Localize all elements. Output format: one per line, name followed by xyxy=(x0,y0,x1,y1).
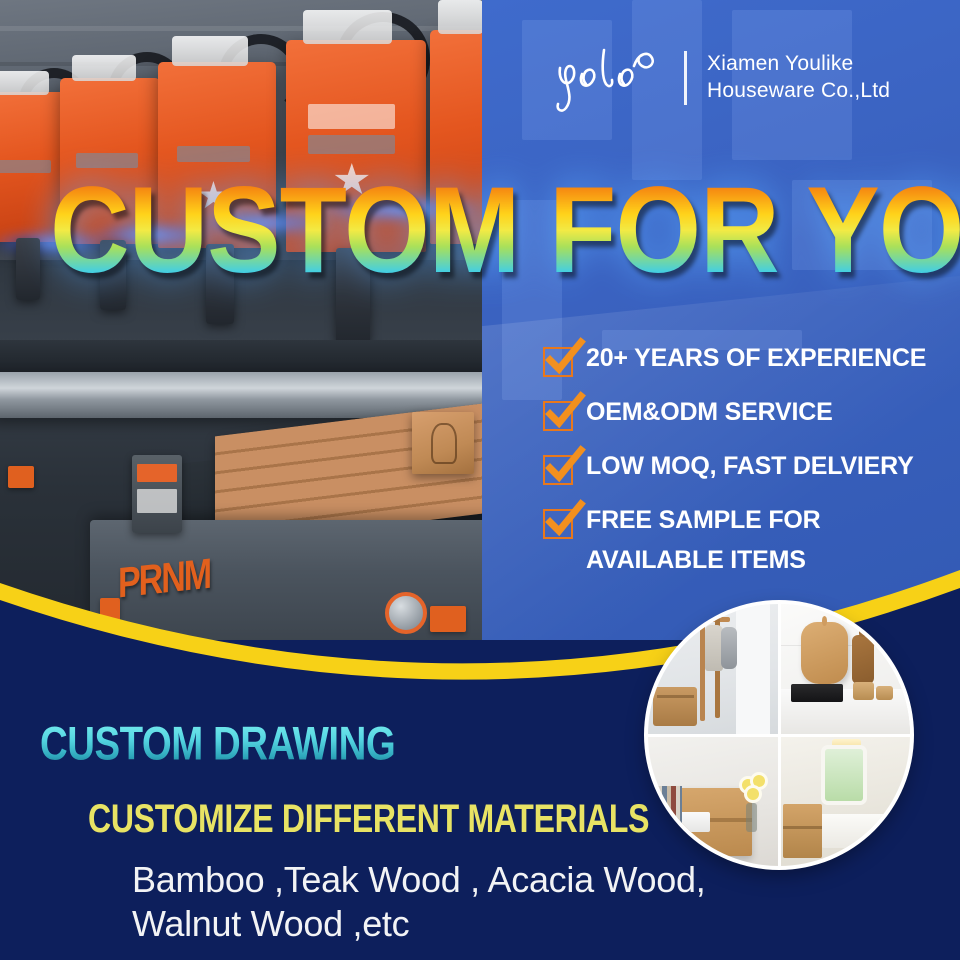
cnc-spindle xyxy=(16,238,40,300)
warning-tag xyxy=(8,466,34,488)
checkbox-checked-icon xyxy=(543,347,573,377)
main-headline-text: CUSTOM FOR YOU! xyxy=(50,162,960,299)
feature-item: LOW MOQ, FAST DELVIERY xyxy=(543,452,943,485)
bottom-subtitle: CUSTOMIZE DIFFERENT MATERIALS xyxy=(88,796,649,842)
feature-item: OEM&ODM SERVICE xyxy=(543,398,943,431)
materials-line2: Walnut Wood ,etc xyxy=(132,902,705,946)
engraved-wood-block xyxy=(412,412,474,474)
main-headline: CUSTOM FOR YOU! xyxy=(50,162,960,299)
company-name-line1: Xiamen Youlike xyxy=(707,51,890,78)
cnc-machine-photo: PRNM xyxy=(0,0,482,640)
materials-text: Bamboo ,Teak Wood , Acacia Wood, Walnut … xyxy=(132,858,705,946)
checkbox-checked-icon xyxy=(543,455,573,485)
machine-gantry xyxy=(0,340,482,374)
collage-cell-kitchen xyxy=(781,604,911,734)
product-photo-collage xyxy=(648,604,910,866)
promo-banner: PRNM Xiamen Youlike Houseware Co.,Ltd CU xyxy=(0,0,960,960)
materials-line1: Bamboo ,Teak Wood , Acacia Wood, xyxy=(132,858,705,902)
brand-logo-row: Xiamen Youlike Houseware Co.,Ltd xyxy=(552,42,890,114)
yolo-script-logo-icon xyxy=(552,42,664,114)
checkbox-checked-icon xyxy=(543,509,573,539)
checkbox-checked-icon xyxy=(543,401,573,431)
company-name-line2: Houseware Co.,Ltd xyxy=(707,78,890,105)
feature-label: LOW MOQ, FAST DELVIERY xyxy=(586,452,914,482)
feature-label: OEM&ODM SERVICE xyxy=(586,398,833,428)
bottom-title: CUSTOM DRAWING xyxy=(40,718,395,771)
machine-rail xyxy=(0,372,482,418)
feature-item: 20+ YEARS OF EXPERIENCE xyxy=(543,344,943,377)
company-name: Xiamen Youlike Houseware Co.,Ltd xyxy=(707,51,890,105)
collage-cell-entryway xyxy=(648,604,778,734)
feature-label: 20+ YEARS OF EXPERIENCE xyxy=(586,344,926,374)
logo-divider xyxy=(684,51,687,105)
collage-cell-bathroom xyxy=(781,737,911,867)
control-box xyxy=(132,455,182,533)
collage-cell-desk-organizer xyxy=(648,737,778,867)
feature-list: 20+ YEARS OF EXPERIENCE OEM&ODM SERVICE … xyxy=(543,344,943,596)
